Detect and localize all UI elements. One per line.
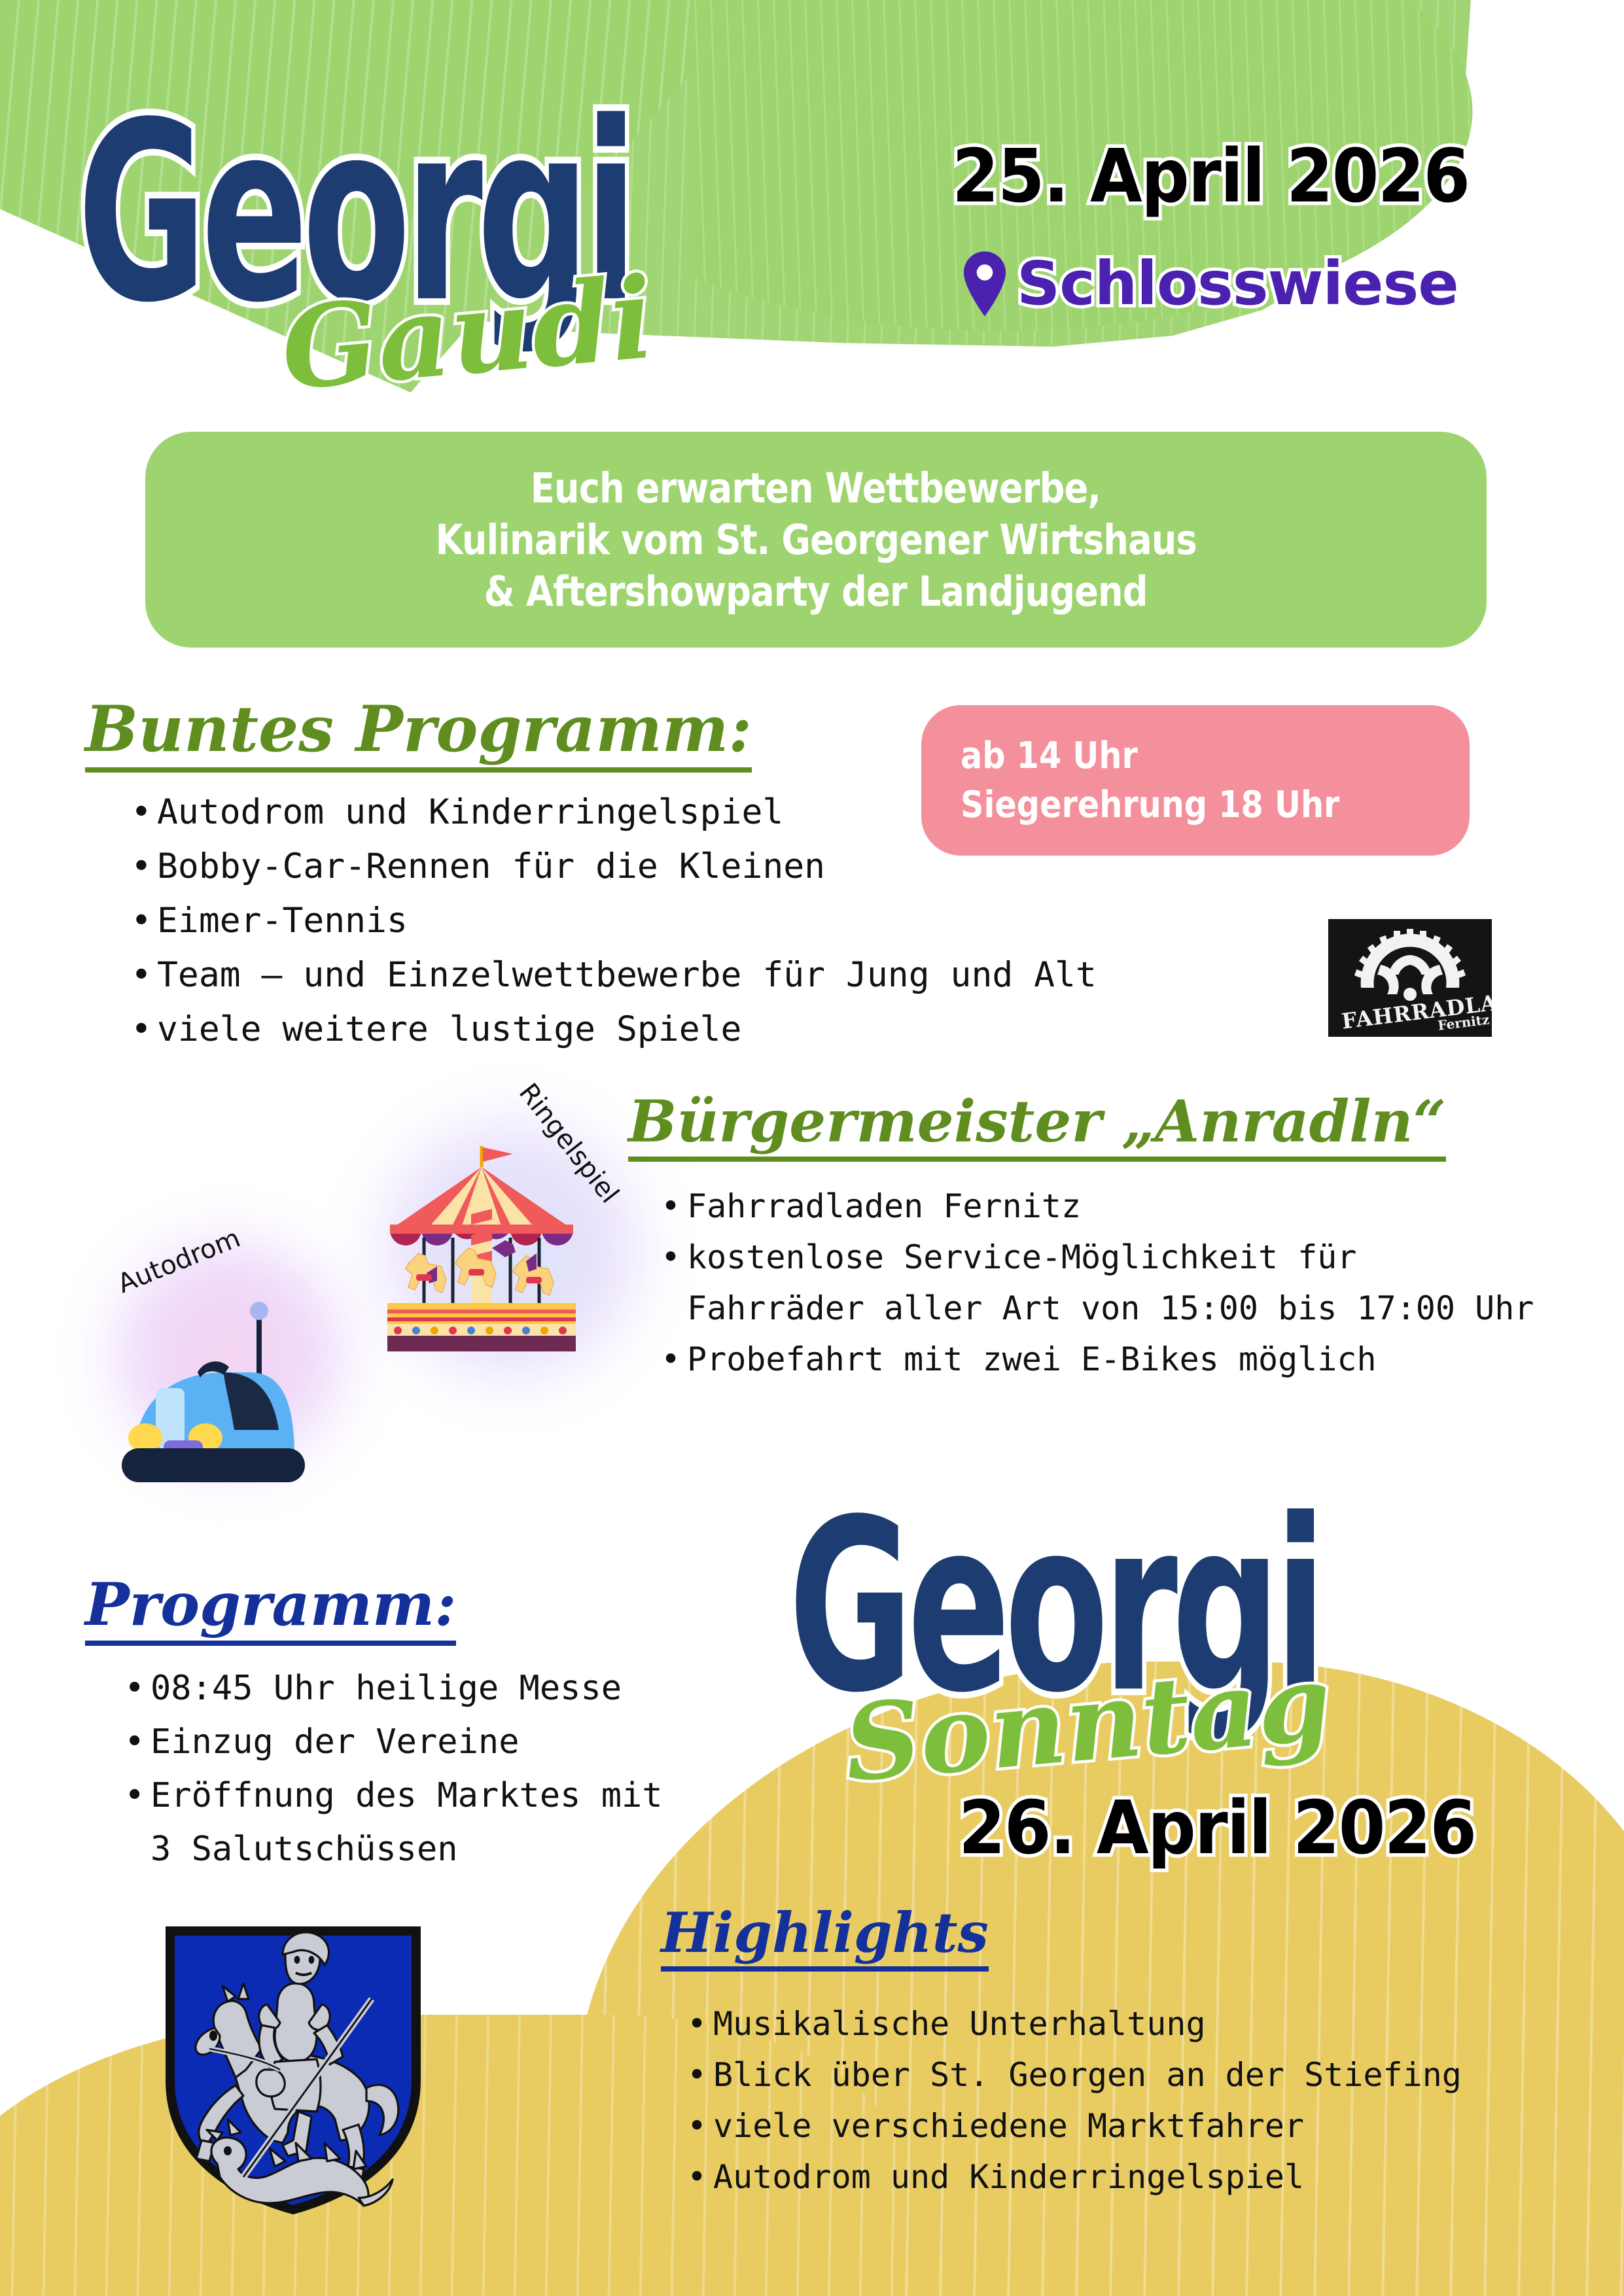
carousel-icon [377,1138,586,1354]
times-box: ab 14 Uhr Siegerehrung 18 Uhr [921,705,1470,856]
banner-line-2: Kulinarik vom St. Georgener Wirtshaus [435,516,1196,564]
location-name: Schlosswiese [1017,249,1458,319]
programm-heading: Programm: [85,1570,456,1646]
list-item: Musikalische Unterhaltung [713,1998,1462,2049]
banner-line-3: & Aftershowparty der Landjugend [484,568,1148,616]
gaudi-script: Gaudi [281,267,654,400]
programm-heading-text: Programm: [85,1570,456,1639]
highlights-heading-text: Highlights [661,1900,989,1965]
event-date-saturday: 25. April 2026 [952,134,1469,219]
list-item: Team – und Einzelwettbewerbe für Jung un… [157,948,1097,1002]
georgi-logo-sonntag: Georgi [788,1469,1360,1659]
banner-line-1: Euch erwarten Wettbewerbe, [531,464,1101,512]
fahrradladen-logo: FAHRRADLADEN Fernitz [1328,919,1492,1037]
list-item: Probefahrt mit zwei E-Bikes möglich [687,1334,1534,1385]
georgi-logo-gaudi: Georgi [77,71,674,268]
location-line: Schlosswiese [962,249,1458,319]
programm-list: 08:45 Uhr heilige Messe Einzug der Verei… [150,1661,663,1876]
times-award: Siegerehrung 18 Uhr [961,784,1409,826]
list-item: Autodrom und Kinderringelspiel [713,2151,1462,2202]
list-item-continuation: Fahrräder aller Art von 15:00 bis 17:00 … [687,1283,1534,1334]
list-item: Einzug der Vereine [150,1715,663,1769]
anradln-heading-text: Bürgermeister „Anradln“ [628,1087,1446,1155]
heading-underline [85,767,752,773]
list-item: kostenlose Service-Möglichkeit für [687,1232,1534,1283]
list-item: Eröffnung des Marktes mit [150,1769,663,1822]
heading-underline [628,1157,1446,1162]
chainring-gear-icon: FAHRRADLADEN Fernitz [1328,919,1492,1037]
sonntag-script: Sonntag [844,1661,1331,1784]
buntes-programm-heading: Buntes Programm: [85,692,752,773]
times-start: ab 14 Uhr [961,735,1409,777]
map-pin-icon [962,251,1008,317]
anradln-list: Fahrradladen Fernitz kostenlose Service-… [687,1181,1534,1385]
list-item: viele verschiedene Marktfahrer [713,2100,1462,2151]
intro-banner: Euch erwarten Wettbewerbe, Kulinarik vom… [145,432,1487,648]
bumper-car-icon [98,1302,380,1491]
list-item: Blick über St. Georgen an der Stiefing [713,2049,1462,2100]
st-george-coat-of-arms [162,1923,424,2218]
buntes-programm-heading-text: Buntes Programm: [85,692,752,766]
list-item: Eimer-Tennis [157,894,1097,948]
list-item: viele weitere lustige Spiele [157,1002,1097,1056]
poster-canvas: Georgi Gaudi 25. April 2026 Schlosswiese… [0,0,1624,2296]
list-item: 08:45 Uhr heilige Messe [150,1661,663,1715]
logo-sonntag-text: Sonntag [839,1641,1335,1805]
heading-underline [85,1641,456,1646]
anradln-heading: Bürgermeister „Anradln“ [628,1087,1446,1162]
list-item: Fahrradladen Fernitz [687,1181,1534,1232]
event-date-sunday: 26. April 2026 [959,1786,1475,1871]
highlights-heading: Highlights [661,1900,989,1972]
highlights-list: Musikalische Unterhaltung Blick über St.… [713,1998,1462,2202]
logo-gaudi-text: Gaudi [276,251,659,416]
heading-underline [661,1966,989,1972]
list-item-continuation: 3 Salutschüssen [150,1822,663,1876]
